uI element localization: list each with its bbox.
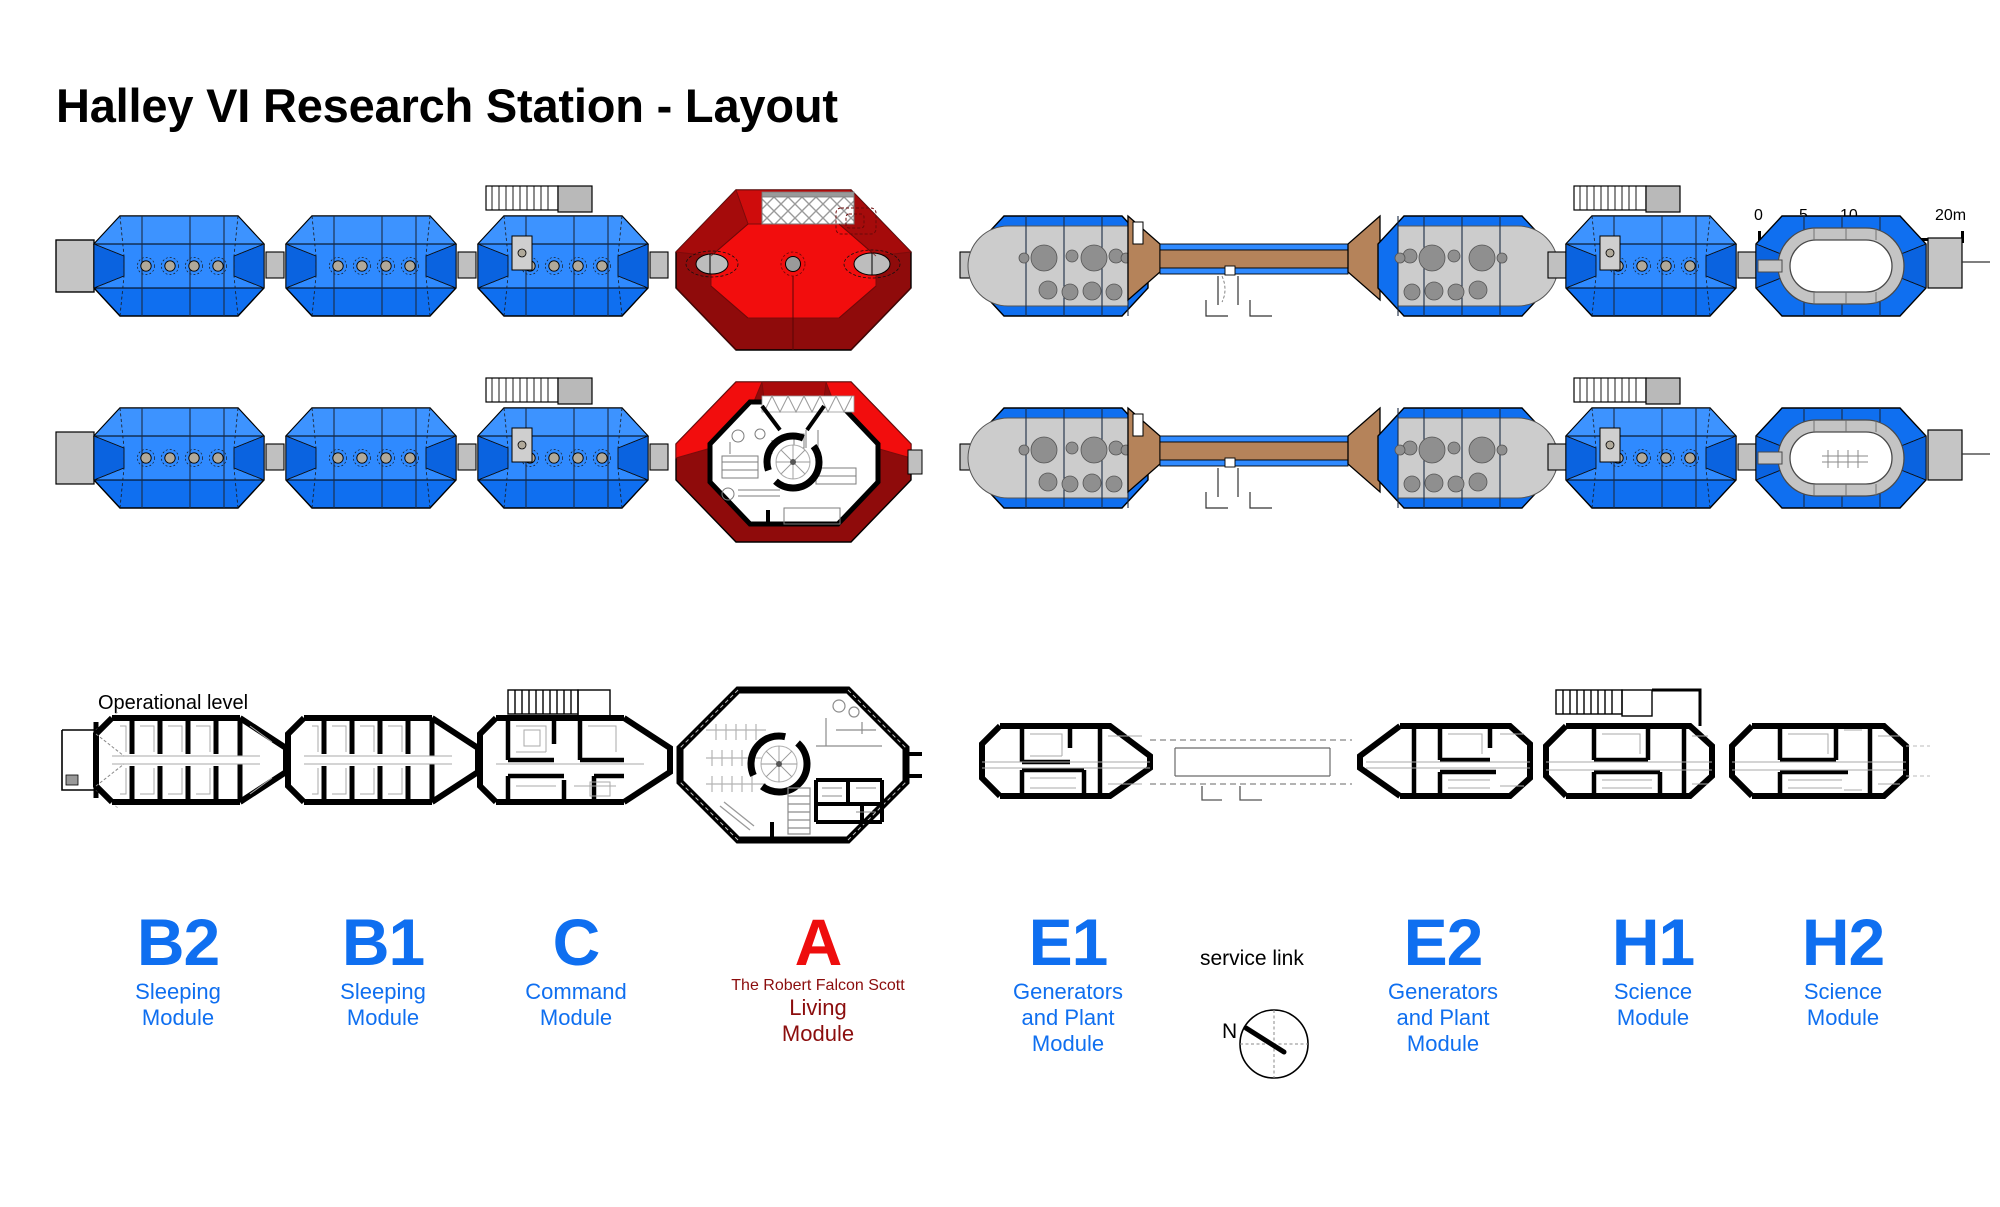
upper-entry-H2 xyxy=(1928,430,1990,480)
legend-item-H1[interactable]: H1 Science Module xyxy=(1553,910,1753,1031)
legend-item-E2[interactable]: E2 Generators and Plant Module xyxy=(1343,910,1543,1057)
legend-code-C: C xyxy=(476,910,676,975)
upper-module-H2[interactable] xyxy=(1756,408,1926,508)
oper-module-H2[interactable] xyxy=(1732,726,1930,796)
roof-service-link xyxy=(1160,244,1348,316)
oper-module-H1[interactable] xyxy=(1546,690,1712,796)
upper-link-C-A xyxy=(650,444,668,470)
upper-link-B1-C xyxy=(458,444,476,470)
oper-module-A[interactable] xyxy=(680,690,922,840)
roof-module-C[interactable] xyxy=(478,186,648,316)
roof-module-H2[interactable] xyxy=(1756,216,1926,316)
oper-module-B1[interactable] xyxy=(288,718,478,802)
upper-bridgehead-E2 xyxy=(1348,408,1380,492)
legend-item-A[interactable]: A The Robert Falcon Scott Living Module xyxy=(718,910,918,1047)
roof-module-E1[interactable] xyxy=(968,216,1148,316)
upper-level-row xyxy=(56,378,1990,542)
legend-name-E1-line2: and Plant xyxy=(968,1005,1168,1031)
legend-name-H1-line2: Module xyxy=(1553,1005,1753,1031)
roof-link-B2-B1 xyxy=(266,252,284,278)
legend-name-E1-line3: Module xyxy=(968,1031,1168,1057)
legend-code-B2: B2 xyxy=(78,910,278,975)
legend-name-H2-line1: Science xyxy=(1743,979,1943,1005)
legend-name-C-line1: Command xyxy=(476,979,676,1005)
legend-name-A-line2: Module xyxy=(718,1021,918,1047)
legend-code-H1: H1 xyxy=(1553,910,1753,975)
roof-entry-B2 xyxy=(56,240,94,292)
roof-level-row xyxy=(56,186,1990,350)
upper-link-E2-H1 xyxy=(1548,444,1566,470)
legend-item-E1[interactable]: E1 Generators and Plant Module xyxy=(968,910,1168,1057)
legend-item-H2[interactable]: H2 Science Module xyxy=(1743,910,1943,1031)
oper-entry-B2 xyxy=(62,712,118,808)
legend-name-B1-line1: Sleeping xyxy=(283,979,483,1005)
legend-code-E2: E2 xyxy=(1343,910,1543,975)
legend-item-B2[interactable]: B2 Sleeping Module xyxy=(78,910,278,1031)
roof-module-E2[interactable] xyxy=(1378,216,1558,316)
oper-module-B2[interactable] xyxy=(96,718,286,802)
legend-name-C-line2: Module xyxy=(476,1005,676,1031)
roof-module-H1[interactable] xyxy=(1566,186,1736,316)
legend-name-E1-line1: Generators xyxy=(968,979,1168,1005)
legend-code-H2: H2 xyxy=(1743,910,1943,975)
operational-level-row xyxy=(62,690,1930,840)
roof-link-E2-H1 xyxy=(1548,252,1566,278)
upper-link-H1-H2 xyxy=(1738,444,1756,470)
roof-module-B1[interactable] xyxy=(286,216,456,316)
legend-item-C[interactable]: C Command Module xyxy=(476,910,676,1031)
roof-link-B1-C xyxy=(458,252,476,278)
roof-link-H1-H2 xyxy=(1738,252,1756,278)
upper-module-E1[interactable] xyxy=(968,408,1148,508)
upper-entry-B2 xyxy=(56,432,94,484)
compass-north-label: N xyxy=(1222,1020,1237,1043)
compass-rose: N xyxy=(1222,996,1318,1092)
roof-module-B2[interactable] xyxy=(94,216,264,316)
oper-module-E1[interactable] xyxy=(982,726,1150,796)
upper-service-link xyxy=(1160,436,1348,508)
upper-module-E2[interactable] xyxy=(1378,408,1558,508)
oper-module-E2[interactable] xyxy=(1360,726,1530,796)
legend-name-E2-line3: Module xyxy=(1343,1031,1543,1057)
legend-item-B1[interactable]: B1 Sleeping Module xyxy=(283,910,483,1031)
upper-module-A[interactable] xyxy=(676,382,922,542)
upper-module-B2[interactable] xyxy=(94,408,264,508)
legend-name-H1-line1: Science xyxy=(1553,979,1753,1005)
station-layout-drawing xyxy=(0,0,2000,900)
roof-bridgehead-E2 xyxy=(1348,216,1380,300)
roof-link-C-A xyxy=(650,252,668,278)
upper-link-B2-B1 xyxy=(266,444,284,470)
legend-name-B2-line1: Sleeping xyxy=(78,979,278,1005)
legend-code-A: A xyxy=(718,910,918,975)
service-link-label: service link xyxy=(1200,947,1304,971)
legend-name-E2-line1: Generators xyxy=(1343,979,1543,1005)
legend-name-H2-line2: Module xyxy=(1743,1005,1943,1031)
oper-service-link xyxy=(1150,740,1352,800)
legend-name-B2-line2: Module xyxy=(78,1005,278,1031)
legend-prefix-A: The Robert Falcon Scott xyxy=(718,977,918,995)
legend-name-E2-line2: and Plant xyxy=(1343,1005,1543,1031)
upper-module-H1[interactable] xyxy=(1566,378,1736,508)
legend-name-A-line1: Living xyxy=(718,995,918,1021)
legend-code-E1: E1 xyxy=(968,910,1168,975)
legend-name-B1-line2: Module xyxy=(283,1005,483,1031)
module-legend: B2 Sleeping Module B1 Sleeping Module C … xyxy=(0,900,2000,1180)
upper-module-C[interactable] xyxy=(478,378,648,508)
oper-module-C[interactable] xyxy=(480,690,670,802)
upper-module-B1[interactable] xyxy=(286,408,456,508)
roof-module-A[interactable] xyxy=(676,190,911,350)
roof-entry-H2 xyxy=(1928,238,1990,288)
legend-code-B1: B1 xyxy=(283,910,483,975)
